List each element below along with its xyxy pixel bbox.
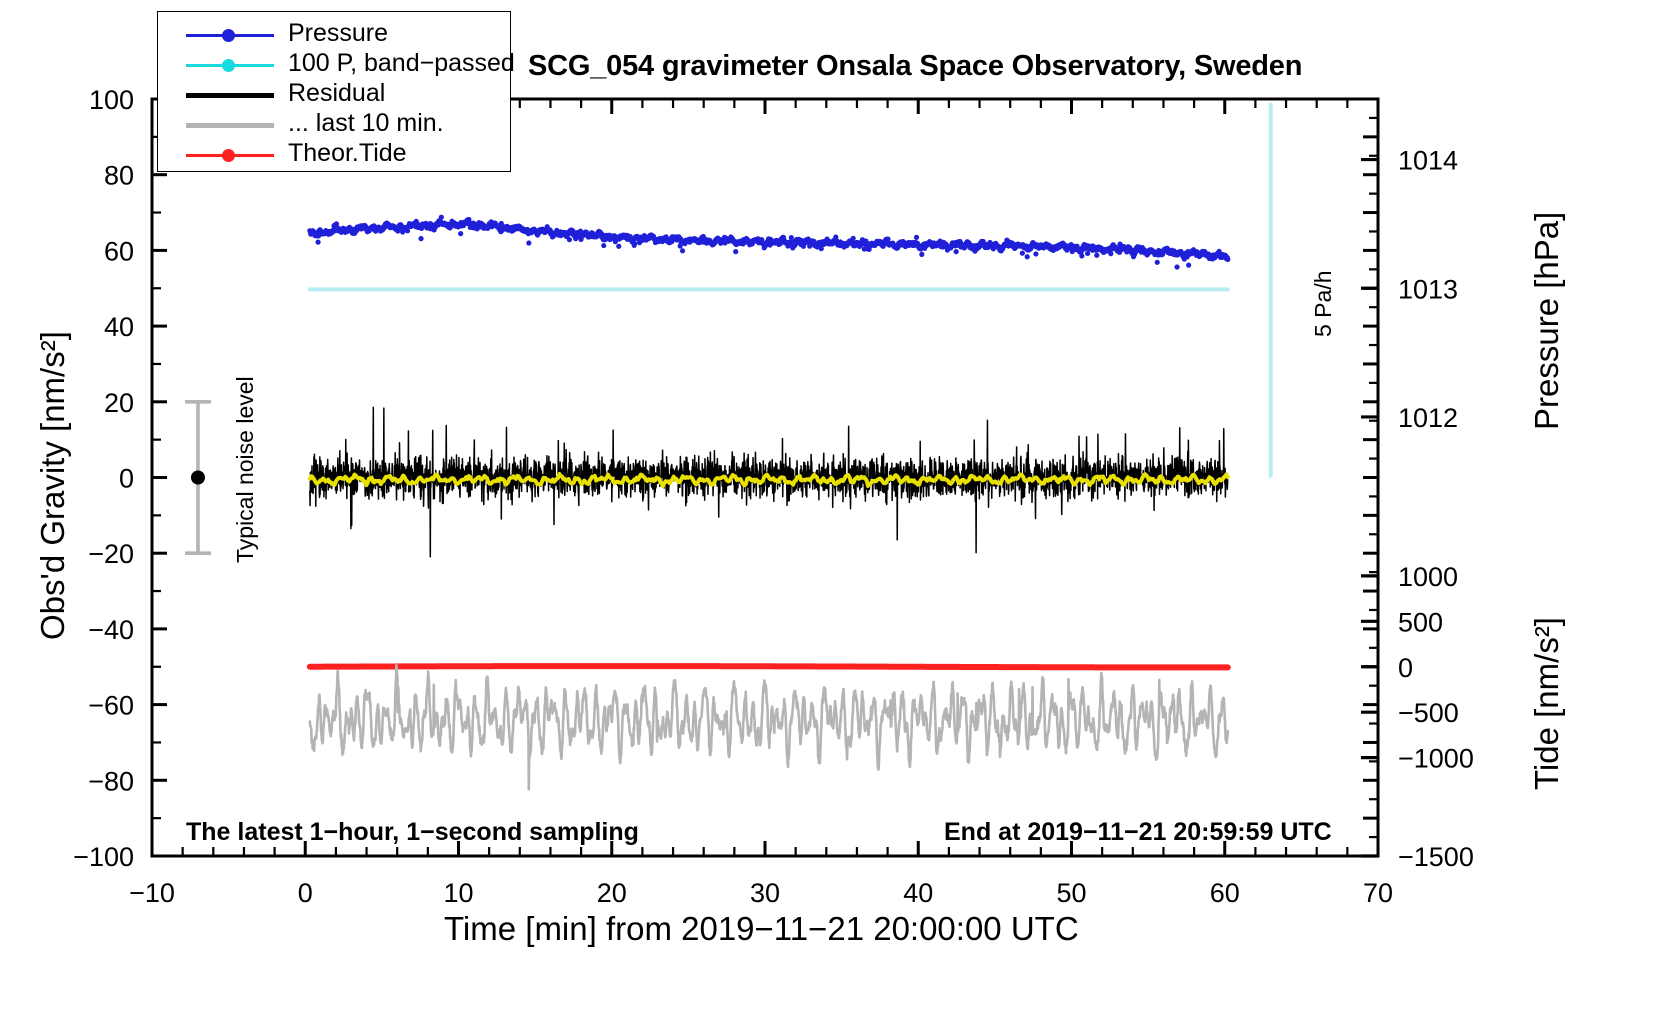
y-axis-left-title: Obs'd Gravity [nm/s²] [34, 331, 72, 640]
y-tick-label-pressure: 1014 [1398, 146, 1458, 176]
legend-item-2: Residual [158, 80, 510, 110]
y-tick-label-tide: −500 [1398, 698, 1459, 728]
legend-swatch-dot [222, 149, 235, 162]
legend-label: Residual [288, 79, 385, 108]
x-tick-label: 0 [298, 878, 313, 908]
legend-swatch-dot [222, 59, 235, 72]
legend-swatch-dot [222, 29, 235, 42]
legend-item-1: 100 P, band−passed [158, 50, 510, 80]
y-tick-label-left: −60 [88, 691, 134, 721]
y-tick-label-left: −80 [88, 766, 134, 796]
chart-legend: Pressure100 P, band−passedResidual... la… [157, 11, 511, 172]
legend-label: Theor.Tide [288, 139, 407, 168]
x-tick-label: 50 [1056, 878, 1086, 908]
x-tick-label: 60 [1210, 878, 1240, 908]
noise-level-label: Typical noise level [232, 376, 259, 563]
footer-right-note: End at 2019−11−21 20:59:59 UTC [944, 818, 1332, 847]
x-tick-label: 70 [1363, 878, 1393, 908]
chart-title: SCG_054 gravimeter Onsala Space Observat… [528, 50, 1302, 83]
series-last-10-min [310, 665, 1228, 789]
y-tick-label-pressure: 1012 [1398, 403, 1458, 433]
legend-item-0: Pressure [158, 20, 510, 50]
y-tick-label-left: −20 [88, 539, 134, 569]
y-tick-label-left: 20 [104, 388, 134, 418]
y-tick-label-tide: 500 [1398, 607, 1443, 637]
y-tick-label-left: 0 [119, 464, 134, 494]
y-tick-label-tide: −1000 [1398, 744, 1474, 774]
y-tick-label-tide: −1500 [1398, 842, 1474, 872]
series-theoretical-tide [310, 666, 1228, 667]
y-tick-label-tide: 0 [1398, 653, 1413, 683]
legend-label: 100 P, band−passed [288, 49, 515, 78]
x-tick-label: 30 [750, 878, 780, 908]
legend-label: Pressure [288, 19, 388, 48]
x-tick-label: 20 [597, 878, 627, 908]
y-tick-label-left: −100 [73, 842, 134, 872]
y-tick-label-tide: 1000 [1398, 562, 1458, 592]
x-tick-label: 40 [903, 878, 933, 908]
y-axis-tide-title: Tide [nm/s²] [1528, 617, 1566, 790]
noise-level-point [191, 471, 205, 485]
y-tick-label-left: 80 [104, 161, 134, 191]
legend-swatch-line [186, 123, 274, 128]
pressure-rate-label: 5 Pa/h [1310, 271, 1337, 338]
y-tick-label-left: 100 [89, 85, 134, 115]
y-tick-label-left: 40 [104, 312, 134, 342]
legend-item-3: ... last 10 min. [158, 110, 510, 140]
legend-label: ... last 10 min. [288, 109, 444, 138]
y-tick-label-pressure: 1013 [1398, 274, 1458, 304]
x-axis-title: Time [min] from 2019−11−21 20:00:00 UTC [444, 910, 1079, 948]
footer-left-note: The latest 1−hour, 1−second sampling [186, 818, 639, 847]
y-tick-label-left: 60 [104, 236, 134, 266]
x-tick-label: −10 [129, 878, 175, 908]
legend-swatch-line [186, 93, 274, 98]
y-axis-pressure-title: Pressure [hPa] [1528, 212, 1566, 430]
series-pressure [307, 215, 1230, 270]
x-tick-label: 10 [443, 878, 473, 908]
y-tick-label-left: −40 [88, 615, 134, 645]
legend-item-4: Theor.Tide [158, 140, 510, 170]
